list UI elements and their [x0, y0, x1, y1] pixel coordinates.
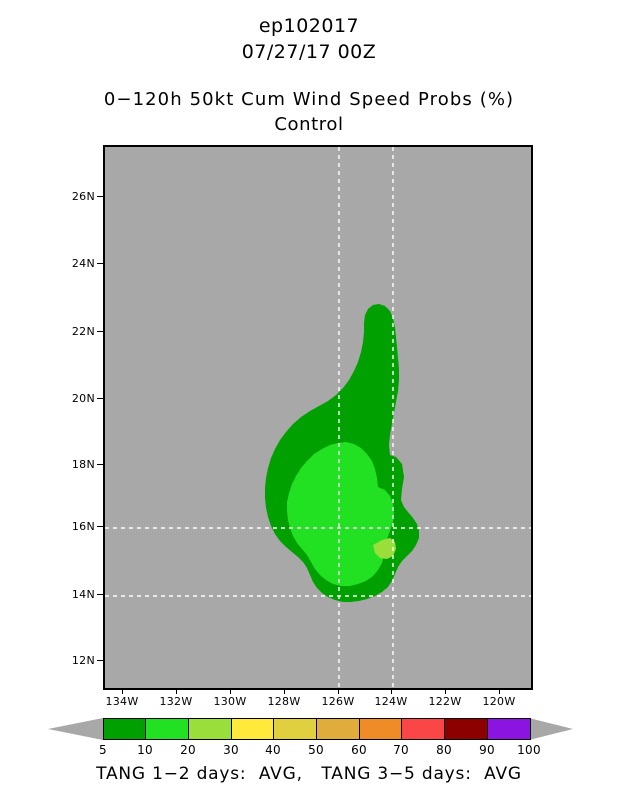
x-tick-mark	[176, 688, 177, 694]
colorbar-label-20: 20	[168, 743, 208, 757]
y-tick-mark	[97, 660, 103, 661]
chart-subtitle-block: 0−120h 50kt Cum Wind Speed Probs (%) Con…	[0, 88, 618, 137]
x-tick-label-124w: 124W	[367, 695, 415, 709]
y-tick-text: 14N	[55, 588, 95, 601]
y-tick-mark	[97, 526, 103, 527]
x-tick-label-134w: 134W	[98, 695, 146, 709]
colorbar-label-90: 90	[467, 743, 507, 757]
probability-colorbar: 5 10 20 30 40 50 60 70 80 90 100	[0, 712, 618, 758]
colorbar-label-50: 50	[296, 743, 336, 757]
colorbar-segment-80-90	[445, 719, 488, 739]
x-tick-label-132w: 132W	[152, 695, 200, 709]
x-tick-mark	[445, 688, 446, 694]
x-tick-text: 134W	[98, 695, 146, 708]
map-plot-area[interactable]	[103, 145, 533, 690]
x-tick-text: 120W	[475, 695, 523, 708]
tang-footer-text: TANG 1−2 days: AVG, TANG 3−5 days: AVG	[0, 764, 618, 784]
x-tick-mark	[338, 688, 339, 694]
x-tick-mark	[391, 688, 392, 694]
chart-title-block: ep102017 07/27/17 00Z	[0, 14, 618, 65]
y-tick-label-14n: 14N	[50, 588, 95, 600]
y-tick-mark	[97, 263, 103, 264]
colorbar-segment-50-60	[317, 719, 360, 739]
y-tick-text: 12N	[55, 654, 95, 667]
y-tick-text: 22N	[55, 325, 95, 338]
colorbar-label-30: 30	[211, 743, 251, 757]
y-tick-mark	[97, 331, 103, 332]
colorbar-label-40: 40	[253, 743, 293, 757]
x-tick-label-130w: 130W	[206, 695, 254, 709]
x-tick-label-122w: 122W	[421, 695, 469, 709]
x-tick-text: 124W	[367, 695, 415, 708]
x-tick-mark	[499, 688, 500, 694]
y-tick-mark	[97, 398, 103, 399]
y-tick-mark	[97, 196, 103, 197]
x-tick-label-126w: 126W	[314, 695, 362, 709]
y-tick-label-16n: 16N	[50, 520, 95, 532]
colorbar-segment-90-100	[488, 719, 530, 739]
x-tick-text: 128W	[260, 695, 308, 708]
x-tick-label-128w: 128W	[260, 695, 308, 709]
x-tick-mark	[230, 688, 231, 694]
x-tick-label-120w: 120W	[475, 695, 523, 709]
colorbar-segment-40-50	[274, 719, 317, 739]
colorbar-extend-low-arrow	[48, 718, 103, 740]
x-tick-mark	[122, 688, 123, 694]
colorbar-label-60: 60	[339, 743, 379, 757]
storm-id-title: ep102017	[0, 14, 618, 39]
y-tick-label-26n: 26N	[50, 190, 95, 202]
y-tick-text: 16N	[55, 520, 95, 533]
colorbar-segment-30-40	[232, 719, 274, 739]
probability-contour-map	[105, 147, 531, 688]
y-tick-text: 26N	[55, 190, 95, 203]
colorbar-segment-5-10	[104, 719, 146, 739]
y-tick-label-24n: 24N	[50, 257, 95, 269]
colorbar-label-5: 5	[83, 743, 123, 757]
y-tick-text: 24N	[55, 257, 95, 270]
x-tick-mark	[284, 688, 285, 694]
x-tick-text: 126W	[314, 695, 362, 708]
colorbar-label-100: 100	[509, 743, 549, 757]
y-tick-text: 18N	[55, 458, 95, 471]
x-tick-text: 122W	[421, 695, 469, 708]
y-tick-label-18n: 18N	[50, 458, 95, 470]
y-tick-mark	[97, 594, 103, 595]
y-tick-label-22n: 22N	[50, 325, 95, 337]
colorbar-segment-60-70	[360, 719, 402, 739]
colorbar-segment-10-20	[146, 719, 189, 739]
product-description: 0−120h 50kt Cum Wind Speed Probs (%)	[0, 88, 618, 112]
colorbar-label-10: 10	[125, 743, 165, 757]
colorbar-extend-high-arrow	[529, 718, 573, 740]
ensemble-member-label: Control	[0, 112, 618, 137]
colorbar-strip	[103, 718, 531, 740]
colorbar-segment-70-80	[402, 719, 445, 739]
valid-datetime-title: 07/27/17 00Z	[0, 39, 618, 65]
y-tick-mark	[97, 464, 103, 465]
x-tick-text: 132W	[152, 695, 200, 708]
x-tick-text: 130W	[206, 695, 254, 708]
y-tick-text: 20N	[55, 392, 95, 405]
y-tick-label-20n: 20N	[50, 392, 95, 404]
colorbar-label-70: 70	[381, 743, 421, 757]
colorbar-segment-20-30	[189, 719, 232, 739]
y-tick-label-12n: 12N	[50, 654, 95, 666]
colorbar-label-80: 80	[424, 743, 464, 757]
